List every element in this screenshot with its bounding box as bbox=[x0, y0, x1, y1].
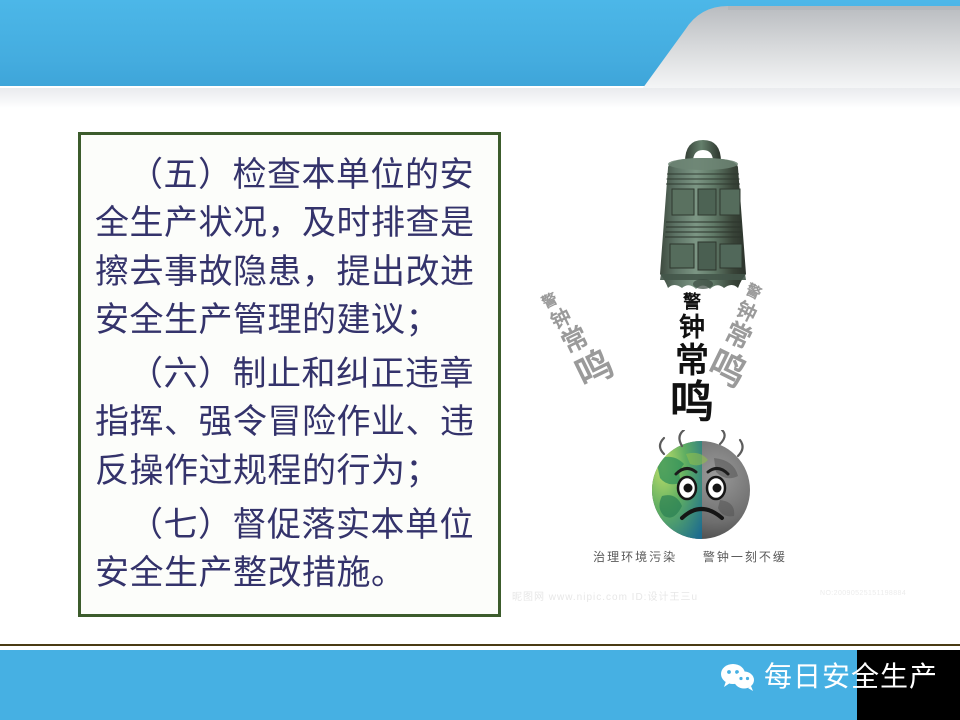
top-banner-underline bbox=[0, 88, 960, 108]
wechat-account-name: 每日安全生产 bbox=[764, 663, 938, 691]
caption-right-text: 警钟一刻不缓 bbox=[703, 550, 787, 564]
echo-char-1: 警 bbox=[670, 294, 714, 312]
sad-earth-icon bbox=[642, 430, 760, 548]
earth-shape bbox=[642, 430, 760, 548]
top-banner bbox=[0, 0, 960, 112]
picture-caption: 治理环境污染 警钟一刻不缓 bbox=[520, 548, 860, 565]
echo-text-left: 警 钟 常 鸣 bbox=[540, 282, 619, 394]
stock-watermark: 昵图网 www.nipic.com ID:设计王三u bbox=[512, 588, 698, 603]
echo-char-3: 常 bbox=[670, 344, 714, 378]
echo-text-center: 警 钟 常 鸣 bbox=[670, 294, 714, 425]
slide-canvas: （五）检查本单位的安全生产状况，及时排查是擦去事故隐患，提出改进安全生产管理的建… bbox=[0, 0, 960, 720]
wechat-account-badge[interactable]: 每日安全生产 bbox=[720, 662, 938, 692]
echo-char-4: 鸣 bbox=[670, 381, 714, 425]
caption-left-text: 治理环境污染 bbox=[593, 550, 677, 564]
content-text-box: （五）检查本单位的安全生产状况，及时排查是擦去事故隐患，提出改进安全生产管理的建… bbox=[78, 132, 501, 617]
paragraph-five: （五）检查本单位的安全生产状况，及时排查是擦去事故隐患，提出改进安全生产管理的建… bbox=[95, 151, 484, 344]
paragraph-seven: （七）督促落实本单位安全生产整改措施。 bbox=[95, 501, 484, 598]
echo-char-2: 钟 bbox=[670, 315, 714, 341]
wechat-icon bbox=[720, 662, 756, 692]
footer-divider bbox=[0, 644, 960, 646]
warning-bell-illustration: 警 钟 常 鸣 警 钟 常 鸣 警 钟 常 鸣 bbox=[520, 130, 960, 620]
paragraph-six: （六）制止和纠正违章指挥、强令冒险作业、违反操作过规程的行为； bbox=[95, 350, 484, 495]
stock-watermark-id: NO:20090525151198884 bbox=[820, 590, 906, 597]
